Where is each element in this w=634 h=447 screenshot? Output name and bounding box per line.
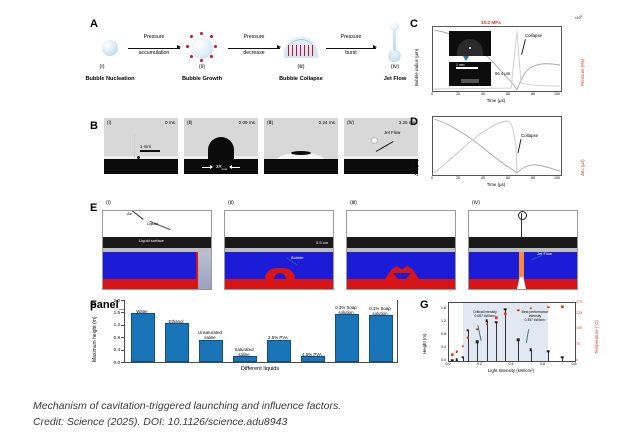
stage-2-roman: (Ⅱ) — [174, 64, 230, 70]
c-inset-bottom: 1 mm — [449, 62, 491, 86]
bubble-growth-glyph — [186, 32, 218, 64]
g-stem-9 — [531, 350, 532, 361]
d-y2label: ΔEₚ (μJ) — [580, 159, 586, 176]
d-xlabel: Time (μs) — [432, 182, 560, 187]
g-height-point-5 — [486, 319, 489, 322]
d-ylabel: ΔEₑ (μJ) — [414, 160, 419, 176]
caption-line-2: Credit: Science (2025). DOI: 10.1126/sci… — [33, 414, 613, 430]
g-xtick-0: 0.0 — [442, 362, 454, 366]
bar-label-0: Water — [124, 309, 159, 314]
e-4-roman: (Ⅳ) — [472, 200, 480, 206]
bar-label-6: 0.3% Soapsolution — [328, 305, 363, 315]
g-xtick-3: 0.6 — [537, 362, 549, 366]
stage-2-name: Bubble Growth — [166, 76, 238, 82]
g-xtick-4: 0.8 — [568, 362, 580, 366]
c-xlabel: Time (μs) — [432, 98, 560, 103]
jet-flow-annotation: Jet Flow — [384, 130, 400, 135]
jet-flow-glyph — [384, 22, 406, 64]
e-jet-flow-label: Jet Flow — [537, 251, 552, 256]
arrow-3-bottom-label: burst — [326, 50, 376, 56]
g-y2tick-4: 275 — [576, 300, 590, 304]
bar-1 — [165, 323, 188, 362]
g-xtick-2: 0.4 — [505, 362, 517, 366]
f-ytick-4: 1.6 — [100, 310, 120, 315]
stage-1-roman: (Ⅰ) — [74, 64, 130, 70]
figure-caption: Mechanism of cavitation-triggered launch… — [33, 398, 613, 431]
d-collapse-label: Collapse — [521, 133, 538, 138]
g-stem-8 — [518, 340, 519, 361]
bar-label-2: Unsaturatedsaline — [192, 330, 227, 340]
frame-1-roman: (Ⅰ) — [107, 120, 111, 126]
c-y2label: Pressure (Pa) — [580, 59, 585, 86]
panel-e-simulation: (Ⅰ) Air Liquid Liquid surface (Ⅱ) 0.5 cm… — [88, 200, 594, 292]
e-liquid-surface-label: Liquid surface — [139, 238, 164, 243]
g-xlabel: Light Intensity (kW/cm²) — [448, 368, 574, 373]
e-scalebar-label: 0.5 cm — [316, 240, 328, 245]
c-collapse-label: Collapse — [525, 33, 542, 38]
arrow-pressure-burst: Pressure burst — [326, 41, 376, 55]
bar-label-3: Saturatedsaline — [226, 347, 261, 357]
bubble-collapse-glyph — [284, 36, 318, 60]
min-radius-label: 66.4 μm — [495, 71, 510, 76]
g-height-point-9 — [530, 348, 533, 351]
figure-canvas: A (Ⅰ) Bubble Nucleation Pressure accumul… — [0, 0, 634, 390]
panel-a-schematic: (Ⅰ) Bubble Nucleation Pressure accumulat… — [88, 14, 404, 102]
g-temp-point-0 — [451, 353, 453, 355]
stage-3-name: Bubble Collapse — [265, 76, 337, 82]
f-ytick-3: 1.2 — [100, 322, 120, 327]
g-ytick-4: 1.8 — [430, 306, 446, 310]
e-air-label: Air — [127, 211, 132, 216]
bar-label-7: 0.1% Soapsolution — [362, 306, 397, 316]
e-subpanel-1: Air Liquid Liquid surface — [102, 210, 212, 290]
g-y2tick-3: 225 — [576, 311, 590, 315]
g-critical-annotation: Critical intensity0.087 kW/cm² — [463, 311, 507, 319]
f-xlabel: Different liquids — [124, 366, 396, 372]
g-height-point-10 — [547, 350, 550, 353]
g-ytick-1: 0.4 — [430, 345, 446, 349]
panel-d-chart: ΔEₑ (μJ) ΔEₚ (μJ) Collapse 0 20 40 60 80… — [412, 112, 590, 194]
frame-1: (Ⅰ) 0 ms 1 mm — [104, 118, 178, 174]
arrow-3-top-label: Pressure — [326, 34, 376, 40]
f-ytick-0: 0.0 — [100, 360, 120, 365]
arrow-2-bottom-label: decrease — [228, 50, 280, 56]
g-height-point-1 — [456, 359, 459, 362]
arrow-pressure-decrease: Pressure decrease — [228, 41, 280, 55]
frame-2-roman: (Ⅱ) — [187, 120, 192, 126]
c-inset-arrow-icon — [463, 56, 469, 61]
g-y2label: Temperature (°C) — [594, 320, 599, 354]
g-stem-6 — [496, 322, 497, 361]
f-ytick-2: 0.8 — [100, 335, 120, 340]
scale-bar — [140, 150, 160, 153]
e-1-roman: (Ⅰ) — [106, 200, 111, 206]
frame-3: (Ⅲ) 0.24 ms — [264, 118, 338, 174]
c-ylabel: Bubble radius (μm) — [414, 49, 419, 86]
g-ylabel: Height (m) — [422, 334, 427, 355]
g-y2tick-1: 75 — [576, 342, 590, 346]
bubble-nucleation-glyph — [102, 40, 118, 56]
f-ylabel: Maximum height (m) — [92, 316, 98, 362]
e-subpanel-2: 0.5 cm Bubble — [224, 210, 334, 290]
frame-2: (Ⅱ) 0.09 ms 2Rmax — [184, 118, 258, 174]
panel-f-bar-chart: Maximum height (m) 0.00.40.81.21.62.0 Wa… — [88, 296, 404, 382]
panel-b-highspeed-frames: (Ⅰ) 0 ms 1 mm (Ⅱ) 0.09 ms 2Rmax (Ⅲ) 0.24… — [88, 118, 404, 180]
g-xtick-1: 0.2 — [474, 362, 486, 366]
g-stem-5 — [487, 321, 488, 361]
f-ytick-5: 2.0 — [100, 298, 120, 303]
g-height-point-11 — [561, 356, 564, 359]
caption-line-1: Mechanism of cavitation-triggered launch… — [33, 398, 613, 414]
arrow-1-top-label: Pressure — [128, 34, 180, 40]
bar-7 — [369, 315, 392, 362]
frame-4-roman: (Ⅳ) — [347, 120, 354, 126]
frame-1-time: 0 ms — [165, 120, 175, 125]
bar-label-1: Ethanol — [158, 319, 193, 324]
g-height-point-2 — [461, 356, 464, 359]
scale-bar-label: 1 mm — [140, 144, 151, 149]
g-height-point-8 — [517, 339, 520, 342]
frame-2-time: 0.09 ms — [239, 120, 255, 125]
frame-3-roman: (Ⅲ) — [267, 120, 273, 126]
g-height-point-3 — [467, 329, 470, 332]
bar-6 — [335, 314, 358, 362]
g-y2tick-2: 150 — [576, 326, 590, 330]
e-2-roman: (Ⅱ) — [228, 200, 234, 206]
f-ytick-1: 0.4 — [100, 347, 120, 352]
g-ytick-2: 0.8 — [430, 332, 446, 336]
peak-pressure-label: 10.2 MPa — [436, 20, 546, 25]
d-curves — [433, 117, 561, 175]
g-stem-10 — [548, 351, 549, 361]
g-plot-area: Critical intensity0.087 kW/cm² Best perf… — [448, 302, 576, 362]
frame-4: Jet Flow (Ⅳ) 3.25 ms — [344, 118, 418, 174]
g-height-point-6 — [495, 321, 498, 324]
panel-c-chart: 10.2 MPa ×106 Bubble radius (μm) Pressur… — [412, 14, 590, 106]
stage-3-roman: (Ⅲ) — [273, 64, 329, 70]
bar-label-4: 2.5% PVA — [260, 335, 295, 340]
e-3-roman: (Ⅲ) — [350, 200, 357, 206]
arrow-pressure-accumulation: Pressure accumulation — [128, 41, 180, 55]
e-colorbar-scale — [196, 252, 198, 289]
frame-3-time: 0.24 ms — [319, 120, 335, 125]
g-ytick-3: 1.2 — [430, 319, 446, 323]
bar-label-5: 4.5% PVA — [294, 352, 329, 357]
e-subpanel-3 — [346, 210, 456, 290]
arrow-2-top-label: Pressure — [228, 34, 280, 40]
stage-1-name: Bubble Nucleation — [74, 76, 146, 82]
c-axes: 1 mm 66.4 μm Collapse — [432, 26, 562, 92]
bar-0 — [131, 313, 154, 362]
c-inset-scalebar-label: 1 mm — [456, 63, 464, 67]
e-liquid-label: Liquid — [147, 221, 158, 226]
e-subpanel-4: Jet Flow — [468, 210, 578, 290]
bar-4 — [267, 340, 290, 362]
e-bubble-label: Bubble — [291, 255, 303, 260]
e-colorbar — [198, 252, 211, 289]
d-axes: Collapse — [432, 116, 562, 176]
g-best-annotation: Best performanceintensity0.357 kW/cm² — [511, 311, 559, 323]
g-temp-point-1 — [456, 350, 458, 352]
g-stem-4 — [477, 342, 478, 361]
c-exponent: ×106 — [575, 15, 582, 20]
g-temp-point-11 — [561, 305, 563, 307]
panel-g-scatter-chart: Height (m) Temperature (°C) 0.00.40.81.2… — [418, 296, 604, 382]
g-height-point-4 — [476, 340, 479, 343]
f-plot-area: WaterEthanolUnsaturatedsalineSaturatedsa… — [124, 300, 398, 363]
c-inset-top — [449, 31, 491, 56]
arrow-1-bottom-label: accumulation — [128, 50, 180, 56]
bar-2 — [199, 340, 222, 362]
g-stem-3 — [468, 330, 469, 361]
radius-annotation: 2Rmax — [216, 164, 227, 171]
